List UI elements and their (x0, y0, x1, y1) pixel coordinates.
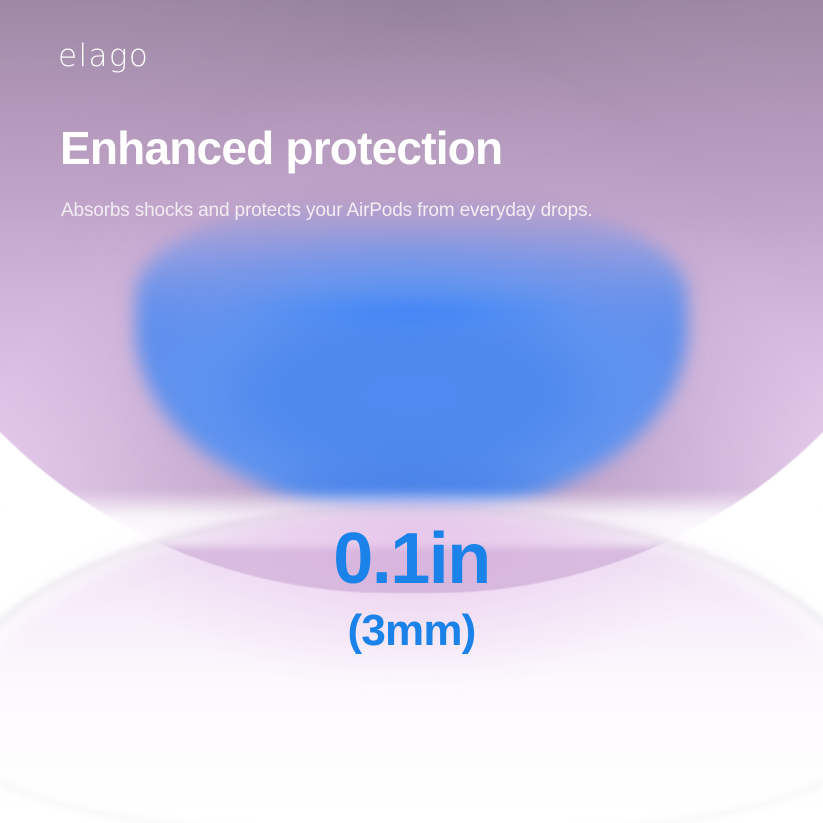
banner-content: elago Enhanced protection Absorbs shocks… (0, 0, 823, 823)
brand-logo: elago (58, 41, 149, 72)
page-title: Enhanced protection (60, 124, 502, 172)
measurement-primary-value: 0.1in (0, 523, 823, 595)
measurement-callout: 0.1in (3mm) (0, 523, 823, 653)
product-feature-banner: elago Enhanced protection Absorbs shocks… (0, 0, 823, 823)
measurement-secondary-value: (3mm) (0, 609, 823, 653)
page-subtitle: Absorbs shocks and protects your AirPods… (61, 199, 593, 224)
